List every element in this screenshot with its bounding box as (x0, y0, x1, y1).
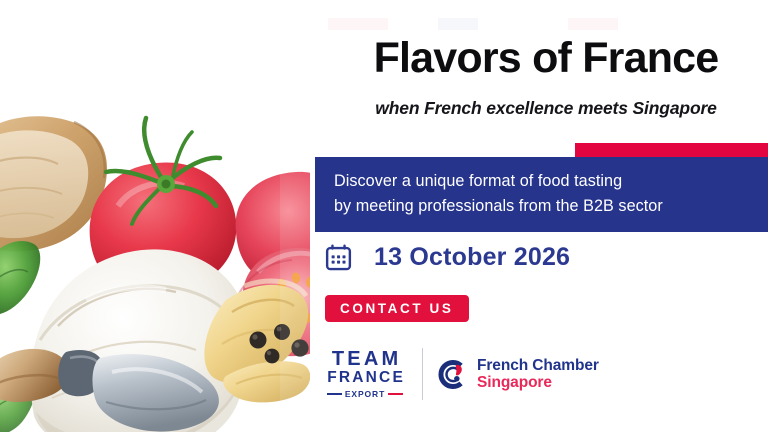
tfe-export-row: EXPORT (324, 389, 406, 399)
tfe-line-team: TEAM (329, 349, 402, 369)
calendar-icon (324, 243, 353, 272)
page-subtitle: when French excellence meets Singapore (324, 98, 768, 119)
tfe-line-export: EXPORT (345, 389, 385, 399)
contact-us-button[interactable]: CONTACT US (325, 295, 469, 322)
description-banner: Discover a unique format of food tasting… (315, 157, 768, 232)
red-accent-strip (575, 143, 768, 157)
french-chamber-text: French Chamber Singapore (477, 357, 599, 392)
watercolor-food-illustration (0, 0, 310, 432)
logo-row: TEAM FRANCE EXPORT (324, 345, 599, 403)
event-date-row: 13 October 2026 (324, 243, 570, 272)
fcs-line-french-chamber: French Chamber (477, 357, 599, 374)
french-chamber-c-mark-icon (437, 359, 468, 390)
watermark-artifact (328, 18, 678, 30)
tfe-rule-right-icon (388, 393, 403, 395)
team-france-export-logo[interactable]: TEAM FRANCE EXPORT (324, 349, 406, 399)
french-chamber-singapore-logo[interactable]: French Chamber Singapore (437, 357, 599, 392)
fcs-line-singapore: Singapore (477, 374, 599, 391)
event-date-text: 13 October 2026 (374, 243, 570, 272)
banner-line-1: Discover a unique format of food tasting (334, 169, 768, 194)
logo-divider (422, 348, 423, 400)
page-title: Flavors of France (324, 36, 768, 82)
tfe-rule-left-icon (327, 393, 342, 395)
banner-line-2: by meeting professionals from the B2B se… (334, 194, 768, 219)
poster-content: Flavors of France when French excellence… (310, 0, 768, 432)
poster-canvas: Flavors of France when French excellence… (0, 0, 768, 432)
tfe-line-france: FRANCE (325, 370, 405, 386)
